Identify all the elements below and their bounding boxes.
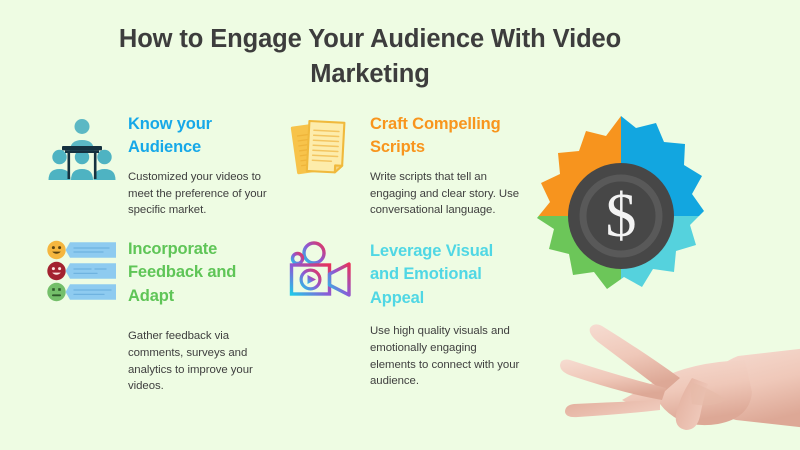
feature-heading: Craft Compelling Scripts <box>370 113 522 160</box>
feature-body: Leverage Visual and Emotional Appeal <box>370 240 522 310</box>
gear-currency-symbol: $ <box>606 182 637 250</box>
feature-heading: Leverage Visual and Emotional Appeal <box>370 240 522 310</box>
feature-text: Write scripts that tell an engaging and … <box>370 169 522 219</box>
feature-body: Craft Compelling Scripts Write scripts t… <box>370 113 522 219</box>
feedback-faces-icon <box>46 240 118 302</box>
feature-text: Customized your videos to meet the prefe… <box>128 169 280 219</box>
video-camera-icon <box>288 240 360 302</box>
infographic-canvas: How to Engage Your Audience With Video M… <box>0 0 800 450</box>
audience-podium-icon <box>46 113 118 185</box>
feature-body: Know your Audience Customized your video… <box>128 113 280 219</box>
dollar-gear-graphic: $ <box>514 114 728 318</box>
script-documents-icon <box>288 113 360 185</box>
feature-text: Use high quality visuals and emotionally… <box>370 323 522 390</box>
feature-body: Incorporate Feedback and Adapt <box>128 238 280 308</box>
feature-heading: Incorporate Feedback and Adapt <box>128 238 280 308</box>
open-hand-photo <box>540 308 800 450</box>
page-title: How to Engage Your Audience With Video M… <box>70 22 670 92</box>
feature-text: Gather feedback via comments, surveys an… <box>128 328 280 395</box>
feature-heading: Know your Audience <box>128 113 280 160</box>
